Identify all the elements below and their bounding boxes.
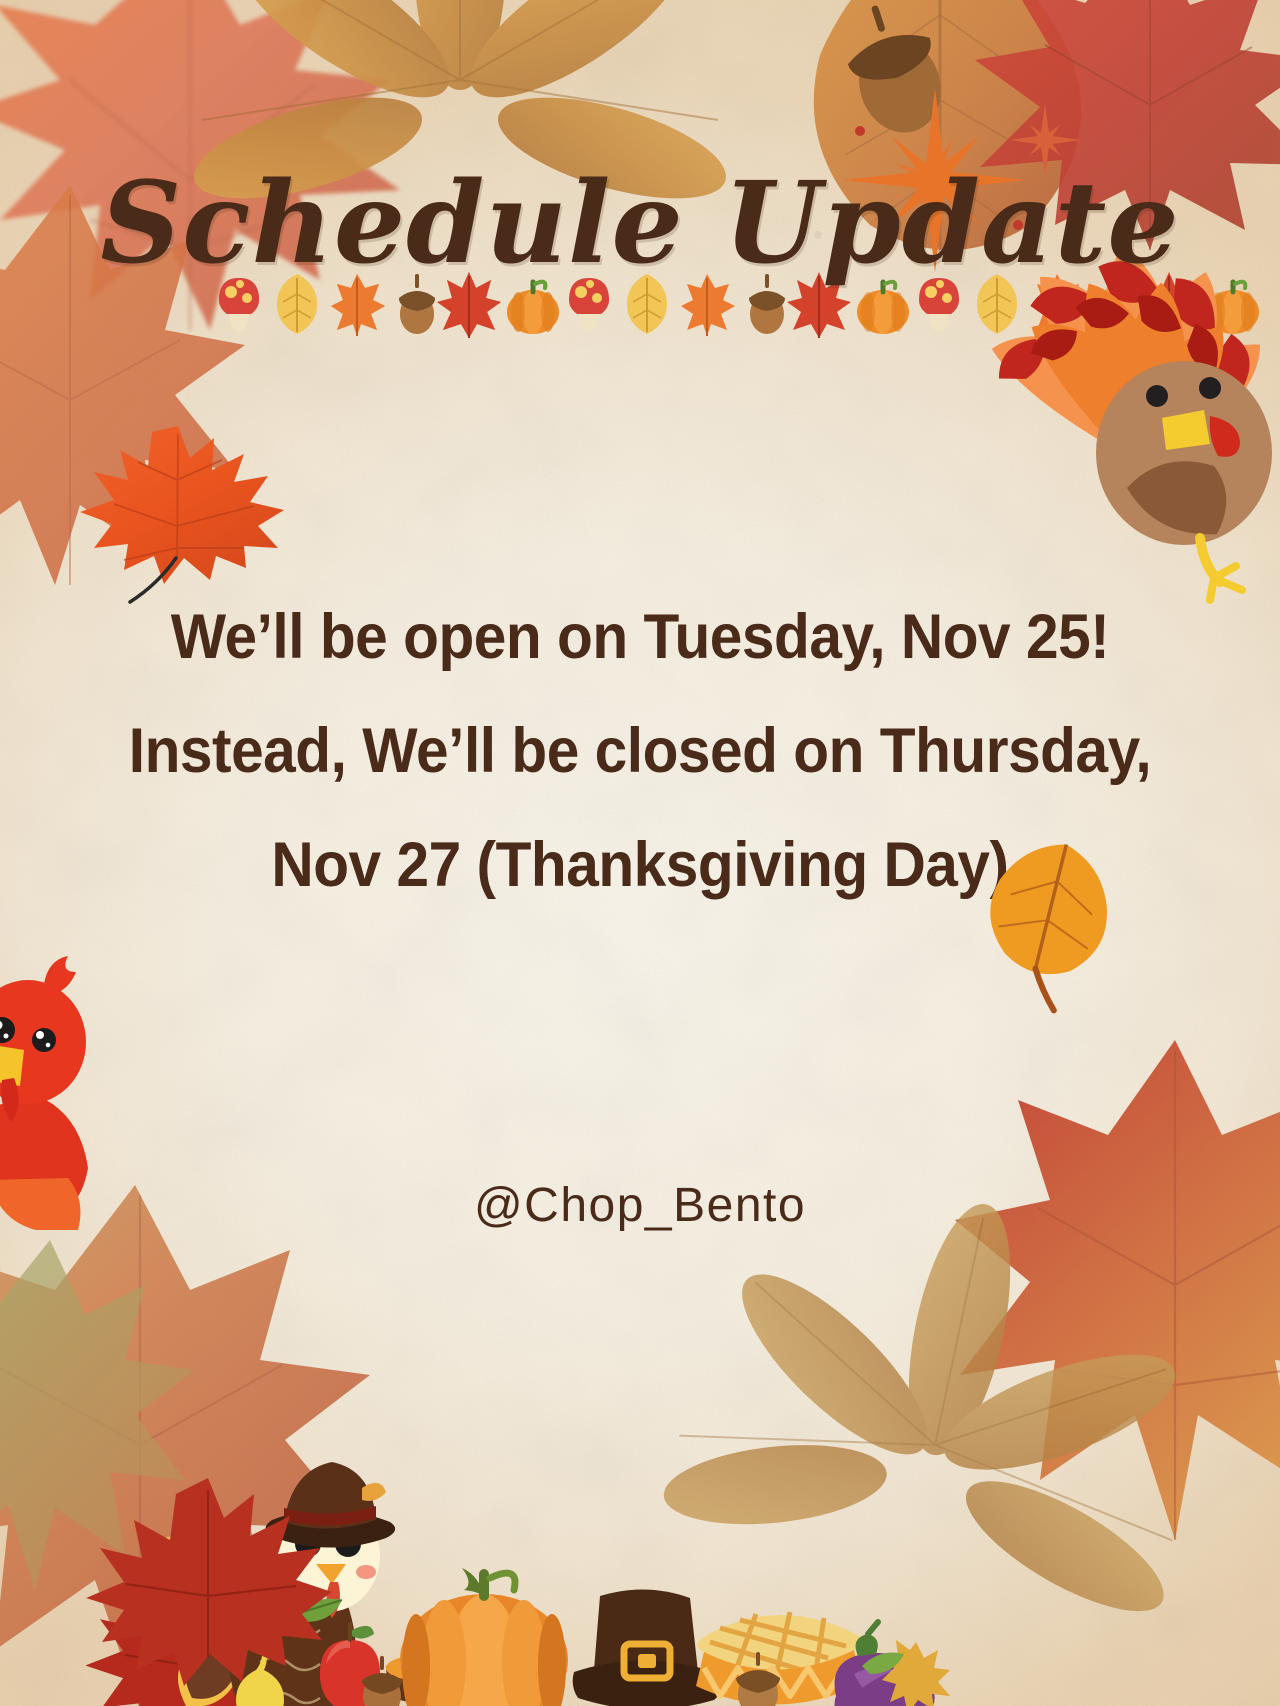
orange-leaf-right: [958, 830, 1138, 990]
yellow-leaf-icon: [882, 1640, 950, 1706]
page-title: Schedule Update: [0, 168, 1280, 280]
turkey-left-body: [0, 956, 88, 1230]
announcement-line-1: We’ll be open on Tuesday, Nov 25!: [69, 580, 1211, 694]
pumpkin-icon: [400, 1568, 568, 1706]
maple-leaf-bottom-left-front: [92, 1468, 332, 1698]
announcement-line-2: Instead, We’ll be closed on Thursday,: [69, 694, 1211, 808]
turkey-left: [0, 900, 248, 1230]
thanksgiving-schedule-poster: Schedule Update We’ll be open on Tuesday…: [0, 0, 1280, 1706]
